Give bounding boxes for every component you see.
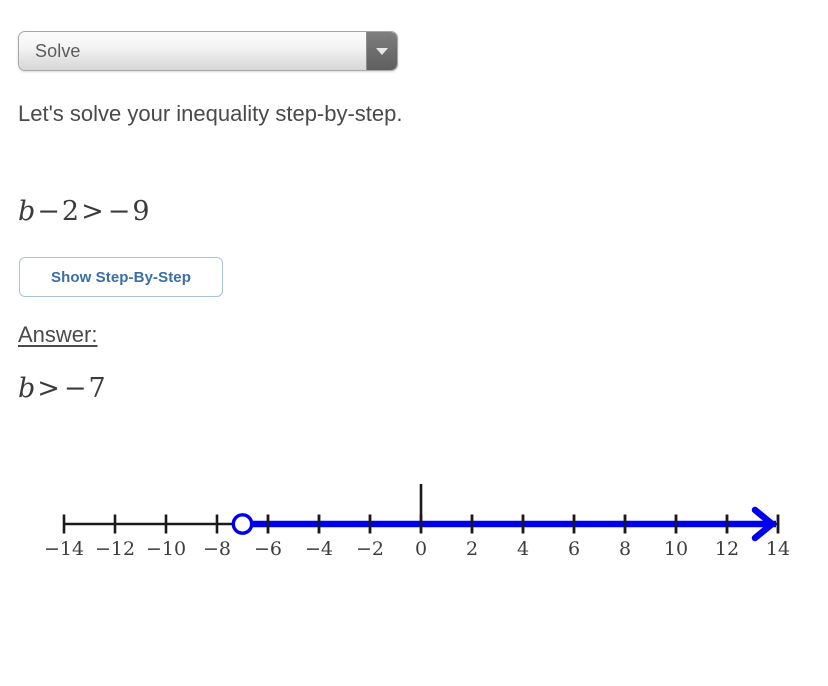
solution-endpoint-open-circle <box>233 515 251 533</box>
solve-mode-selected-value: Solve <box>35 32 81 70</box>
answer-heading: Answer: <box>18 322 97 348</box>
answer-variable: b <box>18 373 35 404</box>
number-line-graph: −14−12−10−8−6−4−202468101214 <box>0 455 828 585</box>
number-line-svg <box>0 455 828 585</box>
tick-label--6: −6 <box>254 538 282 560</box>
tick-label-0: 0 <box>415 538 427 560</box>
answer-value: 7 <box>89 373 106 404</box>
solve-mode-select[interactable]: Solve <box>18 31 398 71</box>
tick-label--8: −8 <box>203 538 231 560</box>
problem-constant: 2 <box>62 196 79 227</box>
tick-label-4: 4 <box>517 538 529 560</box>
problem-rhs-sign: − <box>106 196 133 227</box>
problem-minus-sign: − <box>35 196 62 227</box>
show-step-by-step-button[interactable]: Show Step-By-Step <box>19 257 223 297</box>
tick-label-8: 8 <box>619 538 631 560</box>
tick-label--10: −10 <box>146 538 186 560</box>
chevron-down-glyph <box>376 48 388 55</box>
answer-sign: − <box>62 373 89 404</box>
tick-label--4: −4 <box>305 538 333 560</box>
tick-label--2: −2 <box>356 538 384 560</box>
problem-expression: b−2>−9 <box>18 196 150 227</box>
tick-label-14: 14 <box>766 538 790 560</box>
problem-rhs: 9 <box>132 196 149 227</box>
answer-relation: > <box>35 373 62 404</box>
problem-relation: > <box>79 196 106 227</box>
tick-label-10: 10 <box>664 538 688 560</box>
intro-text: Let's solve your inequality step-by-step… <box>18 89 498 138</box>
tick-label--12: −12 <box>95 538 135 560</box>
problem-variable: b <box>18 196 35 227</box>
tick-label-6: 6 <box>568 538 580 560</box>
tick-label--14: −14 <box>44 538 84 560</box>
tick-label-2: 2 <box>466 538 478 560</box>
answer-expression: b>−7 <box>18 373 106 404</box>
chevron-down-icon[interactable] <box>366 32 397 70</box>
tick-label-12: 12 <box>715 538 739 560</box>
